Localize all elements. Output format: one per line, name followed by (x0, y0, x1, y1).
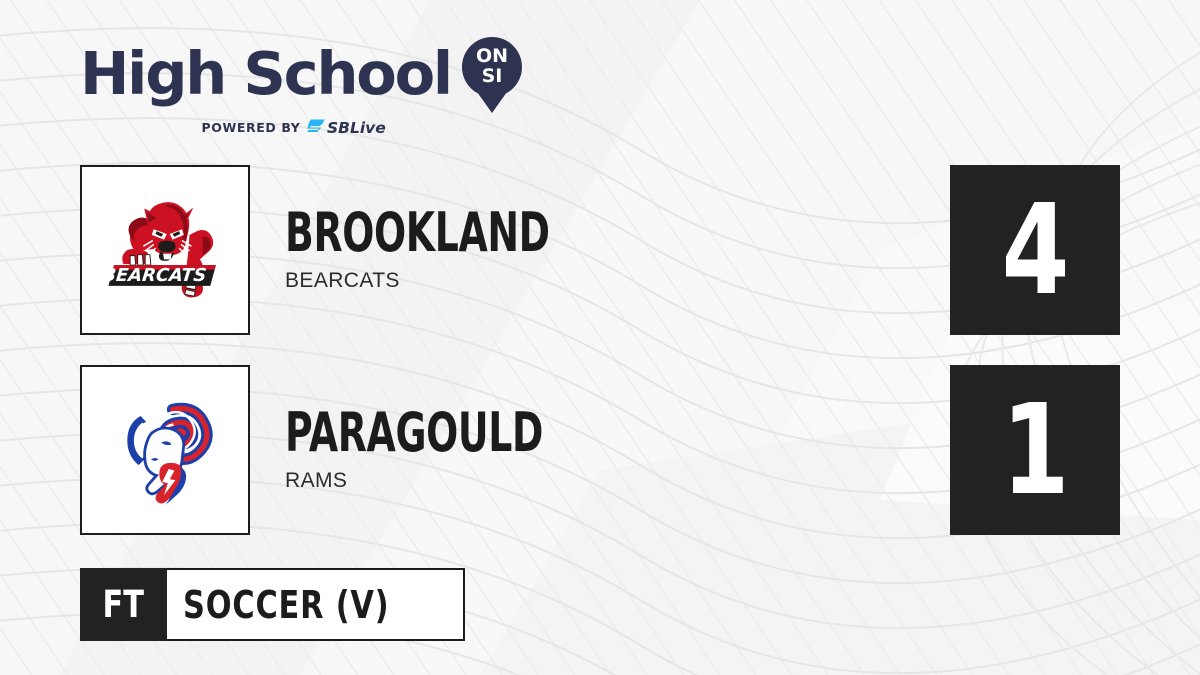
on-si-pin-line2: SI (482, 65, 503, 87)
team-name: BROOKLAND (285, 207, 550, 259)
bearcats-wordmark: BEARCATS (101, 265, 207, 286)
sblive-wordmark: SBLive (327, 119, 386, 137)
powered-by-label: POWERED BY (202, 120, 301, 135)
score-box-paragould: 1 (950, 365, 1120, 535)
team-row: BEARCATS BROOKLAND BEARCATS 4 (0, 165, 1200, 335)
score-box-brookland: 4 (950, 165, 1120, 335)
on-si-pin-icon: ON SI (461, 36, 523, 114)
score-value: 4 (1001, 188, 1069, 313)
team-mascot: RAMS (285, 469, 654, 493)
team-info-paragould: PARAGOULD RAMS (285, 365, 654, 535)
status-period-block: FT (80, 568, 167, 641)
game-status-bar: FT SOCCER (V) (80, 568, 465, 641)
brand-header: High School ON SI POWERED BY SBLive (80, 34, 523, 137)
bearcats-logo: BEARCATS (99, 184, 231, 316)
team-logo-box-brookland: BEARCATS (80, 165, 250, 335)
on-si-pin-line1: ON (476, 45, 508, 67)
sblive-logo: SBLive (307, 117, 407, 137)
powered-by-row: POWERED BY SBLive (86, 117, 523, 137)
team-logo-box-paragould (80, 365, 250, 535)
team-name: PARAGOULD (285, 407, 543, 459)
brand-title-row: High School ON SI (80, 34, 523, 112)
status-period-label: FT (103, 583, 144, 626)
team-row: PARAGOULD RAMS 1 (0, 365, 1200, 535)
background-right-arcs (953, 30, 1200, 675)
page-title: High School (80, 44, 451, 103)
status-sport-block: SOCCER (V) (167, 568, 465, 641)
team-mascot: BEARCATS (285, 269, 663, 293)
team-info-brookland: BROOKLAND BEARCATS (285, 165, 663, 335)
score-value: 1 (1001, 388, 1069, 513)
status-sport-label: SOCCER (V) (183, 583, 389, 627)
rams-logo (99, 384, 231, 516)
